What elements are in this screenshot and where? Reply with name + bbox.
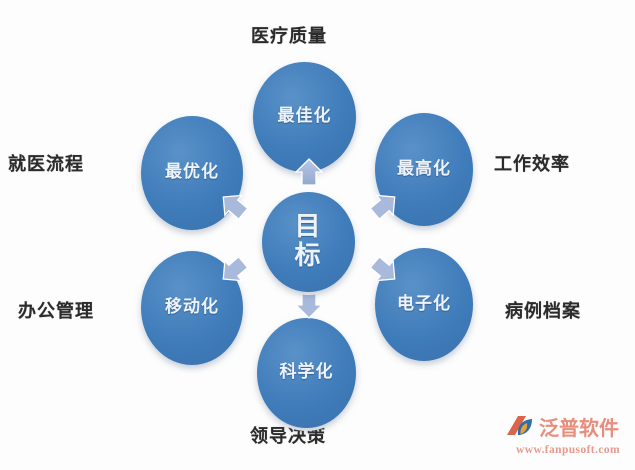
- outer-label-right-upper: 工作效率: [494, 150, 570, 176]
- node-label-bottom-left: 移动化: [165, 298, 219, 317]
- node-label-top-right: 最高化: [397, 160, 451, 179]
- node-label-top-left: 最优化: [165, 163, 219, 182]
- watermark: 泛普软件 www.fanpusoft.com: [505, 414, 631, 464]
- outer-label-right-lower: 病例档案: [505, 297, 581, 323]
- node-circle-bottom[interactable]: 科学化: [257, 318, 356, 428]
- outer-label-top: 医疗质量: [251, 22, 327, 48]
- node-label-bottom-right: 电子化: [397, 295, 451, 314]
- node-label-top: 最佳化: [278, 107, 332, 126]
- node-label-bottom: 科学化: [280, 363, 334, 382]
- diagram-canvas: 医疗质量 工作效率 病例档案 领导决策 办公管理 就医流程: [0, 0, 635, 470]
- outer-label-left-lower: 办公管理: [18, 297, 94, 323]
- watermark-url: www.fanpusoft.com: [505, 444, 631, 456]
- arrow-icon-up: [289, 153, 329, 193]
- node-label-center: 目标: [294, 213, 323, 271]
- watermark-brand: 泛普软件: [539, 418, 619, 438]
- fanpu-logo-icon: [505, 414, 535, 441]
- outer-label-left-upper: 就医流程: [8, 150, 84, 176]
- node-circle-center[interactable]: 目标: [262, 192, 355, 292]
